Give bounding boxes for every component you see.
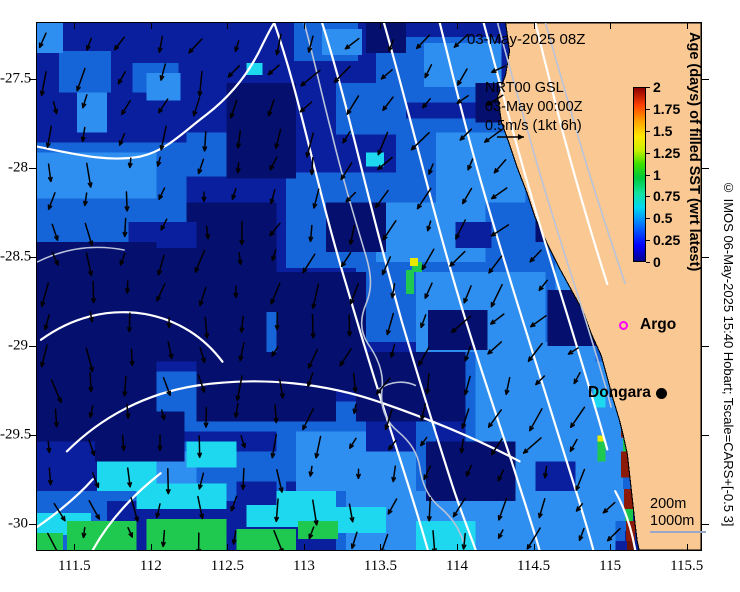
y-axis-tick-left [29,168,36,169]
x-axis-tick-top [534,22,535,29]
x-axis-label: 115 [599,558,621,575]
x-axis-tick-bottom [227,544,228,551]
colorbar-tick-label: 0.5 [653,210,672,226]
y-axis-label: -28.5 [0,249,28,266]
x-axis-tick-bottom [74,544,75,551]
vector-reference-arrow-icon [496,131,530,143]
x-axis-tick-bottom [380,544,381,551]
colorbar-tick [646,87,650,88]
figure-root: 03-May-2025 08Z NRT00 GSL 03-May 00:00Z … [0,0,740,592]
x-axis-label: 112.5 [211,558,244,575]
colorbar-tick-label: 0 [653,254,661,270]
colorbar-tick-label: 0.75 [653,188,680,204]
dongara-label: Dongara [588,384,651,402]
x-axis-tick-bottom [151,544,152,551]
x-axis-tick-top [304,22,305,29]
colorbar-tick [646,175,650,176]
x-axis-label: 115.5 [670,558,703,575]
y-axis-tick-right [702,168,709,169]
x-axis-tick-top [380,22,381,29]
x-axis-label: 113.5 [364,558,397,575]
x-axis-tick-bottom [610,544,611,551]
y-axis-tick-right [702,79,709,80]
credit-text: © IMOS 06-May-2025 15:40 Hobart; Tscale=… [718,180,736,526]
x-axis-tick-top [74,22,75,29]
dongara-marker-icon [656,388,667,399]
x-axis-label: 112 [140,558,162,575]
argo-legend-label: Argo [640,316,676,334]
y-axis-label: -30 [0,516,28,533]
y-axis-tick-right [702,346,709,347]
colorbar-tick [646,131,650,132]
colorbar-tick [646,196,650,197]
y-axis-tick-left [29,524,36,525]
colorbar-tick-label: 1.5 [653,123,672,139]
dongara-city-marker: Dongara [588,384,667,402]
x-axis-tick-top [151,22,152,29]
y-axis-tick-right [702,524,709,525]
y-axis-tick-right [702,435,709,436]
colorbar-tick-label: 0.25 [653,232,680,248]
model-info-block: NRT00 GSL 03-May 00:00Z 0.5m/s (1kt 6h) [485,79,583,136]
colorbar-tick-label: 1.25 [653,145,680,161]
x-axis-label: 111.5 [58,558,91,575]
colorbar-tick [646,109,650,110]
y-axis-label: -27.5 [0,70,28,87]
argo-marker-icon [619,321,628,330]
y-axis-label: -29.5 [0,427,28,444]
y-axis-tick-right [702,257,709,258]
x-axis-tick-top [227,22,228,29]
y-axis-label: -28 [0,160,28,177]
colorbar-title: Age (days) of filled SST (wrt latest) [684,32,702,292]
colorbar-gradient [633,87,646,262]
x-axis-tick-bottom [534,544,535,551]
x-axis-label: 114 [446,558,468,575]
colorbar-tick [646,240,650,241]
argo-legend-entry: Argo [619,316,676,334]
map-plot-area[interactable] [36,22,702,551]
x-axis-label: 113 [293,558,315,575]
model-name: NRT00 GSL [485,79,583,98]
colorbar-tick [646,218,650,219]
x-axis-tick-bottom [687,544,688,551]
colorbar-tick [646,153,650,154]
colorbar-tick-label: 1 [653,167,661,183]
x-axis-tick-top [457,22,458,29]
depth-contour-legend: 200m 1000m [650,496,706,533]
x-axis-tick-bottom [304,544,305,551]
depth-contour-rule [650,531,706,533]
x-axis-label: 114.5 [517,558,550,575]
x-axis-tick-bottom [457,544,458,551]
colorbar-tick-label: 1.75 [653,101,680,117]
x-axis-tick-top [687,22,688,29]
x-axis-tick-top [610,22,611,29]
y-axis-tick-left [29,346,36,347]
date-stamp: 03-May-2025 08Z [467,31,585,48]
depth-200m-label: 200m [650,496,706,513]
colorbar-tick [646,262,650,263]
depth-1000m-label: 1000m [650,513,706,530]
colorbar-tick-label: 2 [653,79,661,95]
model-time: 03-May 00:00Z [485,98,583,117]
surface-current-vectors [37,23,701,550]
y-axis-label: -29 [0,338,28,355]
